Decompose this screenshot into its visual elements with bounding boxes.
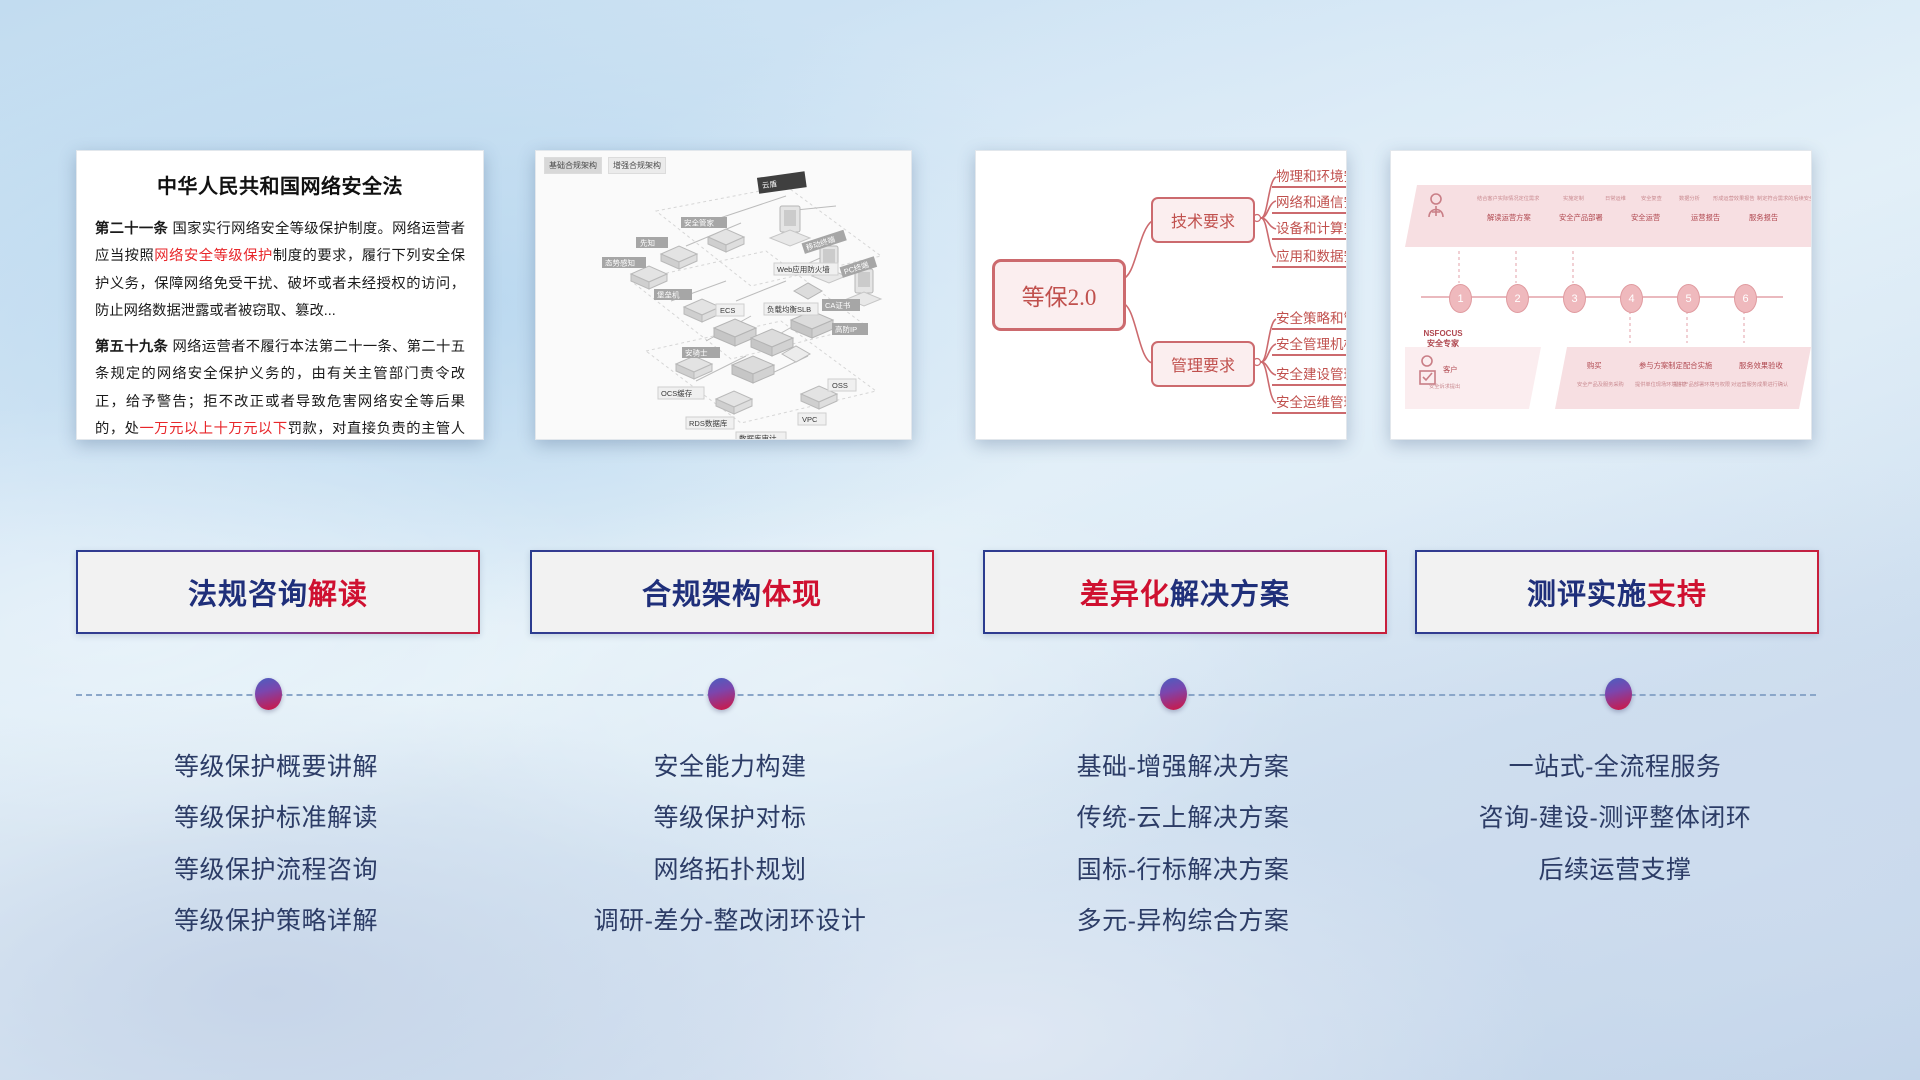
service-top-caption-6: 形成运营效果报告 xyxy=(1713,195,1755,202)
list-item: 传统-云上解决方案 xyxy=(983,793,1383,844)
thumbnail-cards-row: 中华人民共和国网络安全法 第二十一条 国家实行网络安全等级保护制度。网络运营者应… xyxy=(0,150,1920,440)
svg-text:堡垒机: 堡垒机 xyxy=(657,290,680,300)
banner-3-text-blue: 解决方案 xyxy=(1170,571,1290,613)
service-step-number-6: 6 xyxy=(1734,284,1757,313)
list-item: 基础-增强解决方案 xyxy=(983,742,1383,793)
service-flow-card: NSFOCUS 安全专家 解读运营方案 安全产品部署 安全运营 运营报告 服务报… xyxy=(1390,150,1812,440)
svg-text:RDS数据库: RDS数据库 xyxy=(689,418,728,428)
law-article-21-label: 第二十一条 xyxy=(95,221,168,237)
list-item: 网络拓扑规划 xyxy=(530,845,930,896)
list-item: 后续运营支撑 xyxy=(1415,845,1815,896)
service-step-number-1: 1 xyxy=(1449,284,1472,313)
banner-4[interactable]: 测评实施支持 xyxy=(1415,550,1819,634)
service-bottom-right-sub-1: 提供产品部署环境与权限 xyxy=(1673,381,1730,388)
svg-text:安全管家: 安全管家 xyxy=(684,218,714,228)
mindmap-leaf-mgmt-2: 安全管理机构和人员 xyxy=(1272,333,1347,356)
service-top-caption-5: 数据分析 xyxy=(1679,195,1700,202)
svg-text:高防IP: 高防IP xyxy=(835,324,857,334)
service-bottom-step-sub-1: 安全产品及服务采购 xyxy=(1577,381,1624,388)
list-item: 安全能力构建 xyxy=(530,742,930,793)
bullet-column-3: 基础-增强解决方案 传统-云上解决方案 国标-行标解决方案 多元-异构综合方案 xyxy=(983,742,1383,947)
banner-4-text-blue: 测评实施 xyxy=(1527,571,1647,613)
service-bottom-right-step-2: 服务效果验收 xyxy=(1739,361,1783,371)
law-article-59-highlight-1: 一万元以上十万元以下 xyxy=(139,421,287,437)
timeline-dot-1 xyxy=(255,678,282,710)
svg-text:OCS缓存: OCS缓存 xyxy=(661,388,693,398)
service-step-number-3: 3 xyxy=(1563,284,1586,313)
list-item: 一站式-全流程服务 xyxy=(1415,742,1815,793)
list-item: 等级保护流程咨询 xyxy=(76,845,476,896)
law-card-body: 第二十一条 国家实行网络安全等级保护制度。网络运营者应当按照网络安全等级保护制度… xyxy=(77,216,483,440)
service-top-step-3: 安全运营 xyxy=(1631,213,1660,223)
banner-3[interactable]: 差异化解决方案 xyxy=(983,550,1387,634)
timeline-dot-3 xyxy=(1160,678,1187,710)
svg-text:数据库审计: 数据库审计 xyxy=(739,433,777,439)
mindmap-root-node: 等保2.0 xyxy=(992,259,1126,331)
service-bottom-step-2: 参与方案制定 xyxy=(1639,361,1683,371)
service-step-number-4: 4 xyxy=(1620,284,1643,313)
list-item: 等级保护标准解读 xyxy=(76,793,476,844)
mindmap-leaf-mgmt-1: 安全策略和管理制度 xyxy=(1272,307,1347,330)
service-top-step-4: 运营报告 xyxy=(1691,213,1720,223)
law-article-21-highlight: 网络安全等级保护 xyxy=(154,248,273,264)
banner-1[interactable]: 法规咨询解读 xyxy=(76,550,480,634)
mindmap-branch-technical: 技术要求 xyxy=(1151,197,1255,243)
architecture-svg: 态势感知 先知 安全管家 堡垒机 安骑士 ECS OCS缓存 RDS数据库 数据… xyxy=(536,151,911,439)
mindmap-branch-management: 管理要求 xyxy=(1151,341,1255,387)
service-top-step-2: 安全产品部署 xyxy=(1559,213,1603,223)
architecture-card: 基础合规架构 增强合规架构 xyxy=(535,150,912,440)
list-item: 咨询-建设-测评整体闭环 xyxy=(1415,793,1815,844)
brand-name: NSFOCUS xyxy=(1423,329,1462,338)
svg-text:先知: 先知 xyxy=(640,238,655,248)
service-step-number-5: 5 xyxy=(1677,284,1700,313)
service-flow-brand: NSFOCUS 安全专家 xyxy=(1413,329,1473,349)
architecture-diagram: 基础合规架构 增强合规架构 xyxy=(536,151,911,439)
svg-text:负载均衡SLB: 负载均衡SLB xyxy=(767,304,811,314)
list-item: 等级保护对标 xyxy=(530,793,930,844)
service-flow-diagram: NSFOCUS 安全专家 解读运营方案 安全产品部署 安全运营 运营报告 服务报… xyxy=(1391,151,1811,439)
list-item: 等级保护策略详解 xyxy=(76,896,476,947)
service-top-caption-1: 结合客户实际情况定位需求 xyxy=(1477,195,1539,202)
timeline-dot-4 xyxy=(1605,678,1632,710)
svg-text:Web应用防火墙: Web应用防火墙 xyxy=(777,264,830,274)
bullet-column-2: 安全能力构建 等级保护对标 网络拓扑规划 调研-差分-整改闭环设计 xyxy=(530,742,930,947)
banner-3-text-red: 差异化 xyxy=(1080,571,1170,613)
timeline-dot-2 xyxy=(708,678,735,710)
list-item: 等级保护概要讲解 xyxy=(76,742,476,793)
service-top-caption-7: 制定符合需求的后续安全服务规划 xyxy=(1757,195,1812,202)
service-bottom-right-step-1: 配合实施 xyxy=(1683,361,1712,371)
mindmap-leaf-tech-1: 物理和环境安全 xyxy=(1272,165,1347,188)
svg-text:OSS: OSS xyxy=(832,381,848,390)
timeline-dashed-line xyxy=(76,694,1816,696)
mindmap-card: 等保2.0 技术要求 管理要求 物理和环境安全 网络和通信安全 设备和计算安全 … xyxy=(975,150,1347,440)
mindmap-leaf-tech-3: 设备和计算安全 xyxy=(1272,217,1347,240)
service-top-step-1: 解读运营方案 xyxy=(1487,213,1531,223)
law-card-title: 中华人民共和国网络安全法 xyxy=(77,170,483,199)
service-bottom-left-sub: 安全诉求提出 xyxy=(1429,383,1460,390)
banner-2-text-blue: 合规架构 xyxy=(642,571,762,613)
banner-4-text-red: 支持 xyxy=(1647,571,1707,613)
svg-text:VPC: VPC xyxy=(802,415,818,424)
banner-1-text-blue: 法规咨询 xyxy=(188,571,308,613)
mindmap-diagram: 等保2.0 技术要求 管理要求 物理和环境安全 网络和通信安全 设备和计算安全 … xyxy=(976,151,1346,439)
bullet-column-4: 一站式-全流程服务 咨询-建设-测评整体闭环 后续运营支撑 xyxy=(1415,742,1815,896)
bullet-column-1: 等级保护概要讲解 等级保护标准解读 等级保护流程咨询 等级保护策略详解 xyxy=(76,742,476,947)
law-article-59: 第五十九条 网络运营者不履行本法第二十一条、第二十五条规定的网络安全保护义务的，… xyxy=(95,334,465,440)
law-article-59-label: 第五十九条 xyxy=(95,339,168,355)
service-top-step-5: 服务报告 xyxy=(1749,213,1778,223)
service-bottom-right-sub-2: 对运营服务成果进行确认 xyxy=(1731,381,1788,388)
service-top-caption-4: 安全复查 xyxy=(1641,195,1662,202)
svg-text:安骑士: 安骑士 xyxy=(685,348,708,358)
mindmap-leaf-tech-4: 应用和数据安全 xyxy=(1272,245,1347,268)
service-bottom-left-label: 客户 xyxy=(1443,365,1458,375)
law-card: 中华人民共和国网络安全法 第二十一条 国家实行网络安全等级保护制度。网络运营者应… xyxy=(76,150,484,440)
svg-text:态势感知: 态势感知 xyxy=(605,258,635,268)
list-item: 国标-行标解决方案 xyxy=(983,845,1383,896)
svg-text:ECS: ECS xyxy=(720,306,735,315)
svg-text:CA证书: CA证书 xyxy=(825,300,851,310)
banner-1-text-red: 解读 xyxy=(308,571,368,613)
service-top-caption-3: 日常运维 xyxy=(1605,195,1626,202)
list-item: 调研-差分-整改闭环设计 xyxy=(530,896,930,947)
service-bottom-step-1: 购买 xyxy=(1587,361,1602,371)
mindmap-leaf-tech-2: 网络和通信安全 xyxy=(1272,191,1347,214)
brand-subtitle: 安全专家 xyxy=(1427,339,1459,348)
banner-2-text-red: 体现 xyxy=(762,571,822,613)
mindmap-leaf-mgmt-4: 安全运维管理 xyxy=(1272,391,1347,414)
law-article-21: 第二十一条 国家实行网络安全等级保护制度。网络运营者应当按照网络安全等级保护制度… xyxy=(95,216,465,326)
list-item: 多元-异构综合方案 xyxy=(983,896,1383,947)
mindmap-leaf-mgmt-3: 安全建设管理 xyxy=(1272,363,1347,386)
banner-2[interactable]: 合规架构体现 xyxy=(530,550,934,634)
service-step-number-2: 2 xyxy=(1506,284,1529,313)
service-top-caption-2: 实施定制 xyxy=(1563,195,1584,202)
